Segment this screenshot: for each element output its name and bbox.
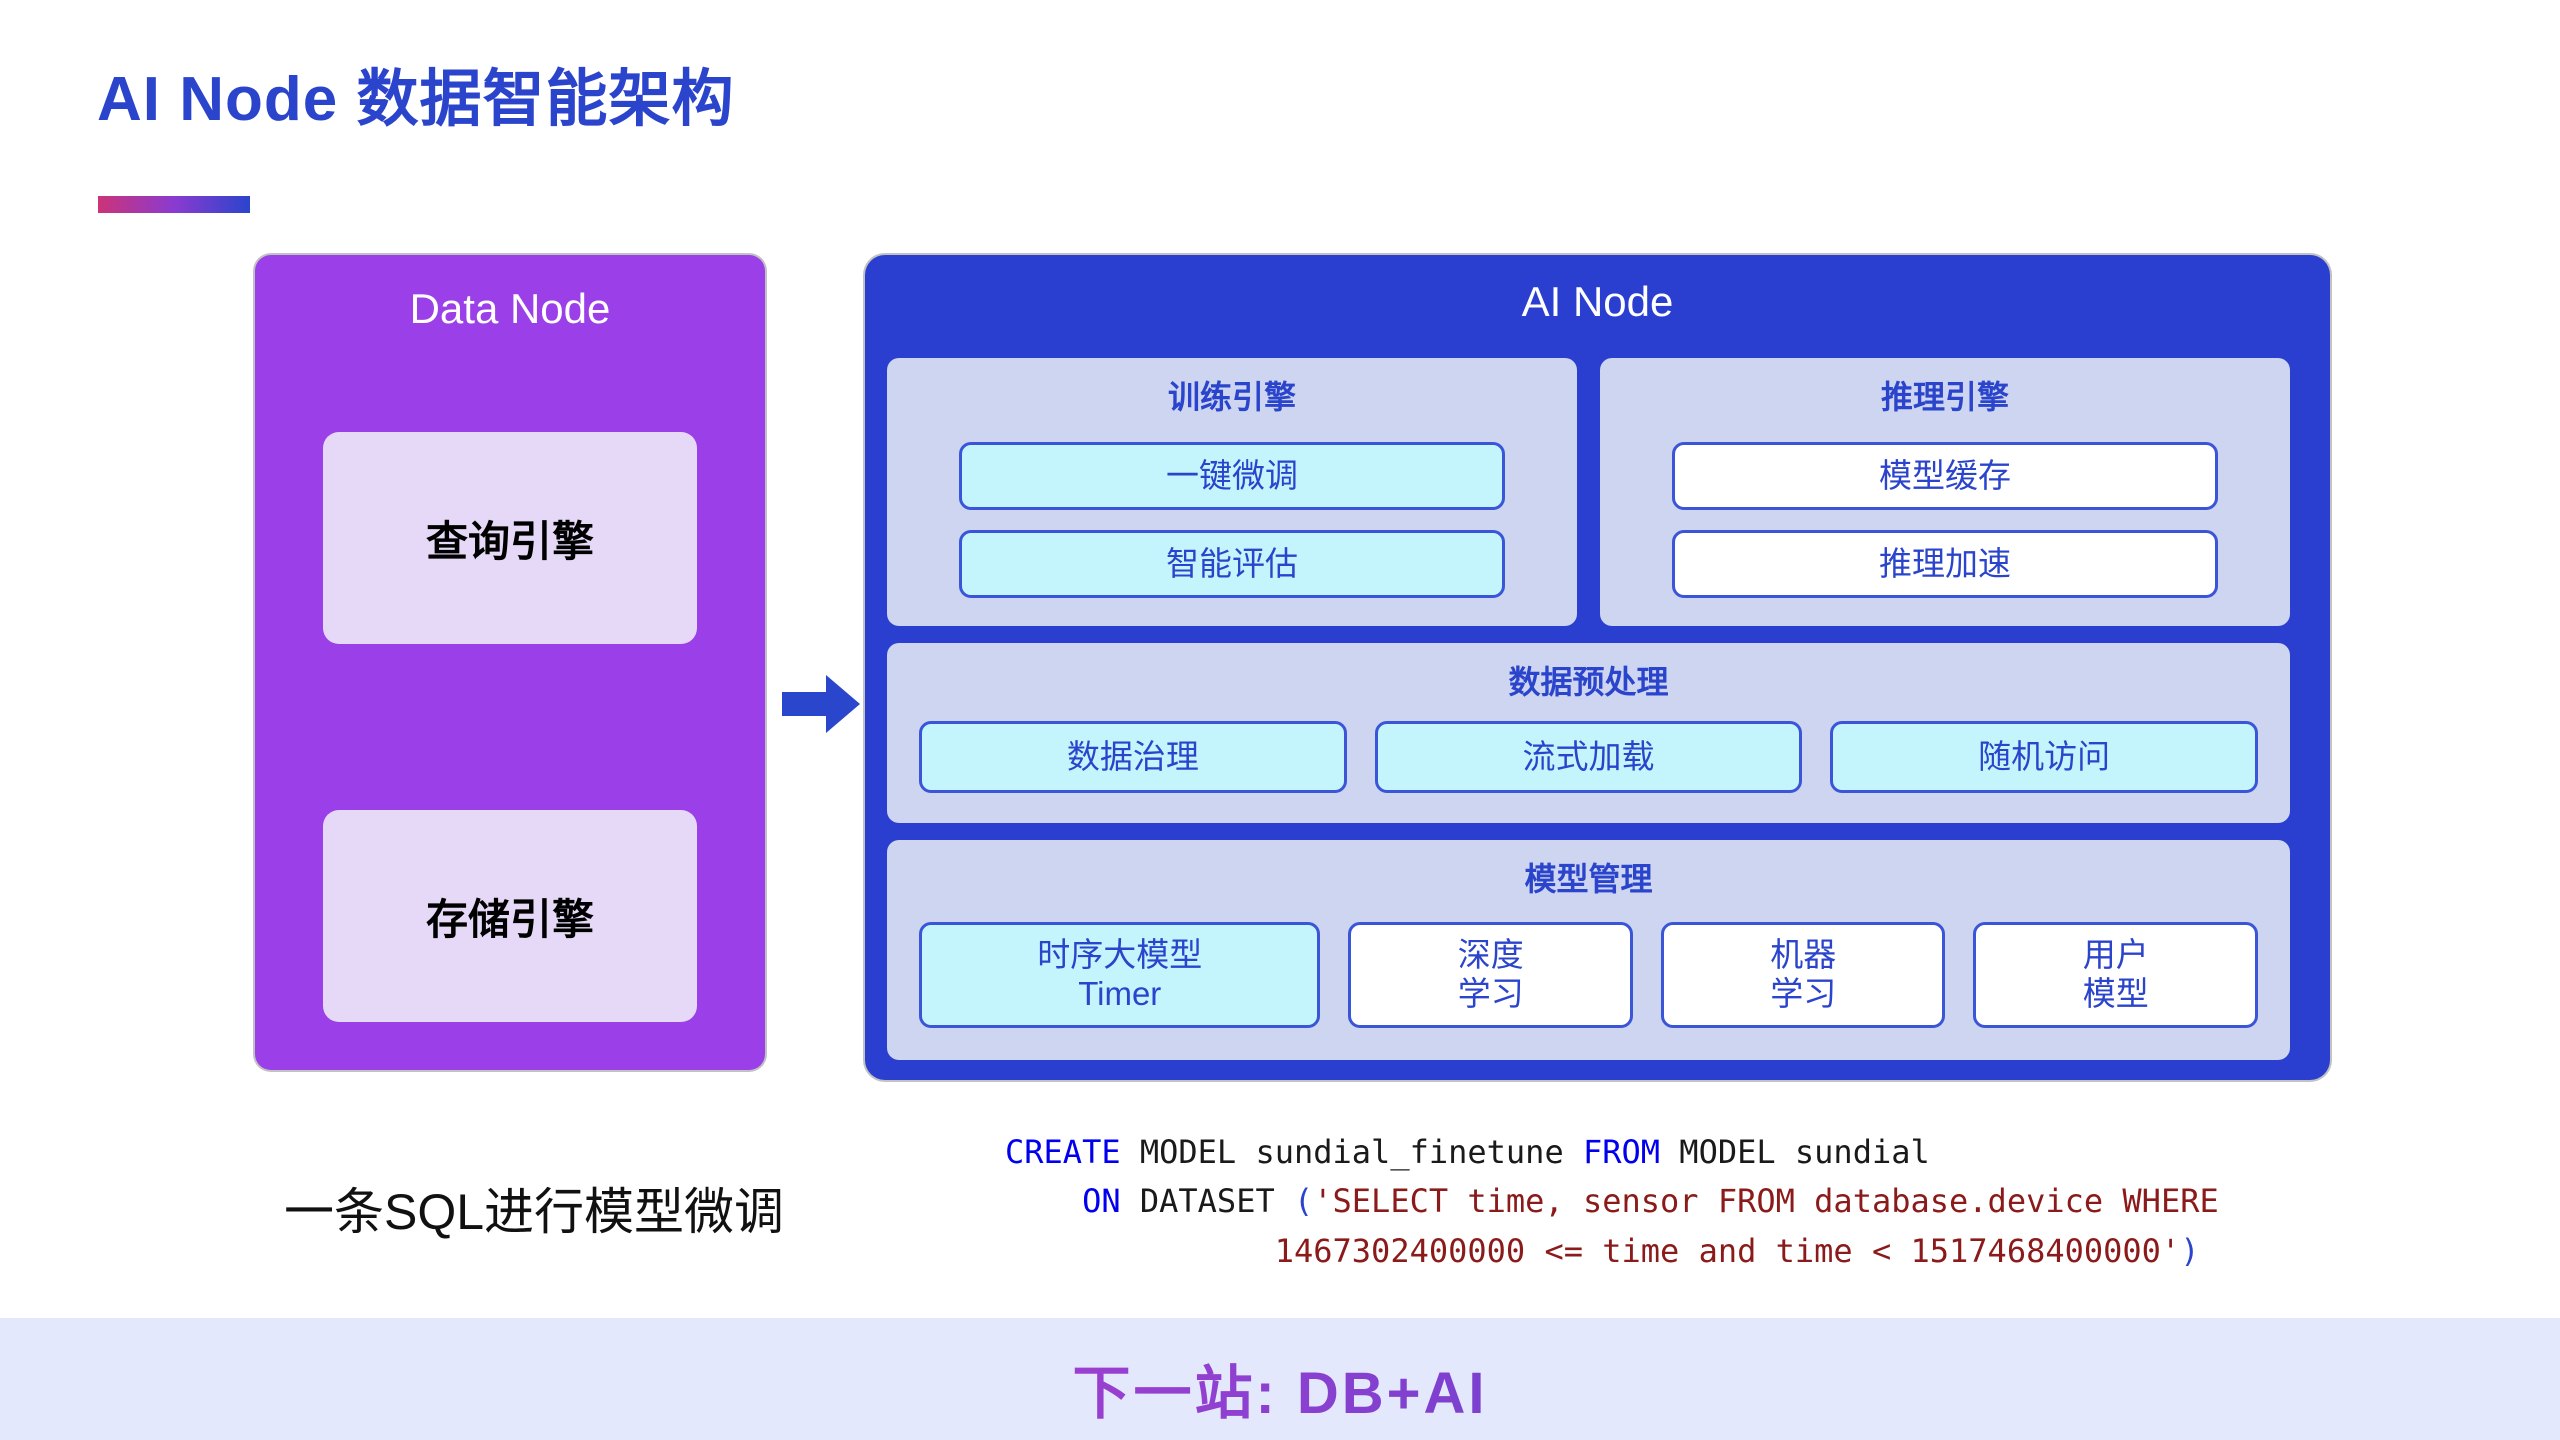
title-underline-accent	[98, 196, 250, 213]
footer-text: 下一站: DB+AI	[0, 1346, 2560, 1430]
sql-text: MODEL sundial_finetune	[1121, 1133, 1583, 1171]
ai-node-title: AI Node	[865, 278, 2330, 326]
chip-timeseries-large-model-timer[interactable]: 时序大模型 Timer	[919, 922, 1320, 1028]
data-node-title: Data Node	[255, 285, 765, 333]
chip-label-line2: Timer	[1078, 975, 1161, 1014]
chip-label-line1: 深度	[1458, 936, 1524, 975]
chip-label: 流式加载	[1523, 738, 1655, 777]
footer-band: 下一站: DB+AI	[0, 1318, 2560, 1440]
chip-label-line2: 模型	[2083, 975, 2149, 1014]
chip-user-model[interactable]: 用户 模型	[1973, 922, 2258, 1028]
section-title: 数据预处理	[887, 657, 2290, 703]
chip-streaming-load[interactable]: 流式加载	[1375, 721, 1803, 793]
chip-label: 数据治理	[1067, 738, 1199, 777]
chip-deep-learning[interactable]: 深度 学习	[1348, 922, 1633, 1028]
page-title: AI Node 数据智能架构	[97, 48, 734, 138]
sql-text: MODEL sundial	[1660, 1133, 1930, 1171]
section-title: 训练引擎	[887, 372, 1577, 418]
chip-label: 随机访问	[1978, 738, 2110, 777]
sql-keyword-from: FROM	[1583, 1133, 1660, 1171]
model-management-chip-row: 时序大模型 Timer 深度 学习 机器 学习 用户 模型	[919, 922, 2258, 1028]
chip-smart-evaluation[interactable]: 智能评估	[959, 530, 1505, 598]
chip-data-governance[interactable]: 数据治理	[919, 721, 1347, 793]
sql-text: DATASET	[1121, 1182, 1294, 1220]
chip-label-line1: 时序大模型	[1037, 936, 1202, 975]
section-training-engine: 训练引擎 一键微调 智能评估	[887, 358, 1577, 626]
chip-label: 推理加速	[1879, 545, 2011, 584]
sql-keyword-on: ON	[1082, 1182, 1121, 1220]
chip-one-click-finetune[interactable]: 一键微调	[959, 442, 1505, 510]
sql-paren-open: (	[1294, 1182, 1313, 1220]
sql-paren-close: )	[2180, 1232, 2199, 1270]
sql-caption: 一条SQL进行模型微调	[284, 1172, 784, 1244]
section-data-preprocessing: 数据预处理 数据治理 流式加载 随机访问	[887, 643, 2290, 823]
data-node-box-label: 查询引擎	[426, 508, 594, 569]
sql-string-literal: 1467302400000 <= time and time < 1517468…	[1275, 1232, 2180, 1270]
chip-inference-acceleration[interactable]: 推理加速	[1672, 530, 2218, 598]
data-node-box-label: 存储引擎	[426, 886, 594, 947]
preprocessing-chip-row: 数据治理 流式加载 随机访问	[919, 721, 2258, 793]
data-node-panel: Data Node 查询引擎 存储引擎	[255, 255, 765, 1070]
chip-label: 智能评估	[1166, 545, 1298, 584]
chip-label-line2: 学习	[1770, 975, 1836, 1014]
chip-random-access[interactable]: 随机访问	[1830, 721, 2258, 793]
chip-label-line1: 机器	[1770, 936, 1836, 975]
ai-node-panel: AI Node 训练引擎 一键微调 智能评估 推理引擎 模型缓存 推理加速 数据…	[865, 255, 2330, 1080]
section-title: 推理引擎	[1600, 372, 2290, 418]
data-node-box-query-engine[interactable]: 查询引擎	[323, 432, 697, 644]
right-arrow-icon	[782, 673, 860, 735]
sql-code-block: CREATE MODEL sundial_finetune FROM MODEL…	[1005, 1128, 2219, 1276]
chip-model-cache[interactable]: 模型缓存	[1672, 442, 2218, 510]
sql-indent	[1005, 1232, 1275, 1270]
chip-label: 一键微调	[1166, 457, 1298, 496]
section-inference-engine: 推理引擎 模型缓存 推理加速	[1600, 358, 2290, 626]
chip-label-line1: 用户	[2083, 936, 2149, 975]
sql-keyword-create: CREATE	[1005, 1133, 1121, 1171]
chip-label-line2: 学习	[1458, 975, 1524, 1014]
chip-machine-learning[interactable]: 机器 学习	[1661, 922, 1946, 1028]
chip-label: 模型缓存	[1879, 457, 2011, 496]
section-title: 模型管理	[887, 854, 2290, 900]
sql-string-literal: 'SELECT time, sensor FROM database.devic…	[1313, 1182, 2218, 1220]
data-node-box-storage-engine[interactable]: 存储引擎	[323, 810, 697, 1022]
section-model-management: 模型管理 时序大模型 Timer 深度 学习 机器 学习 用户 模型	[887, 840, 2290, 1060]
sql-indent	[1005, 1182, 1082, 1220]
